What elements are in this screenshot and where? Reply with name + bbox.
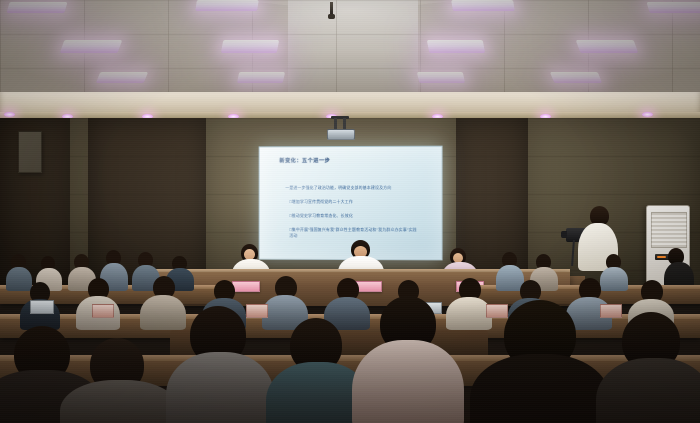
ceiling	[0, 0, 700, 106]
laptop-icon	[30, 300, 54, 314]
foreground-attendee	[596, 312, 700, 423]
wall-speaker-icon	[18, 131, 42, 173]
foreground-attendee	[166, 306, 274, 423]
slide-title: 新变化：五个进一步	[279, 157, 330, 164]
foreground-attendee	[60, 338, 180, 423]
attendee-torso	[60, 380, 180, 423]
attendee-torso	[470, 354, 610, 423]
attendee-torso	[166, 352, 274, 423]
cove-downlight	[4, 112, 15, 117]
slide-line-1: 一是进一步强化了政治功能，明确党支部的基本建设及方向	[285, 185, 391, 191]
cove-downlight	[642, 112, 653, 117]
audience-member	[76, 278, 120, 328]
ceiling-shading	[0, 0, 700, 106]
ceiling-hanging-fixture	[330, 2, 333, 15]
slide-line-4: □集中开展"强国复兴有我"群众性主题教育活动和"我为群众办实事"实践活动	[289, 227, 419, 239]
meeting-room-photo: 新变化：五个进一步 一是进一步强化了政治功能，明确党支部的基本建设及方向 □增加…	[0, 0, 700, 423]
table-namecard	[92, 304, 114, 318]
attendee-torso	[352, 340, 464, 423]
foreground-attendee	[470, 300, 610, 423]
attendee-torso	[596, 358, 700, 423]
ceiling-projector-icon	[327, 118, 353, 138]
foreground-attendee	[352, 296, 464, 423]
slide-line-3: □推动党史学习教育常态化、长效化	[289, 213, 353, 219]
ac-louvers	[651, 212, 687, 248]
slide-line-2: □增加学习宣传贯彻党的二十大工作	[289, 199, 353, 205]
projector-body	[327, 129, 355, 140]
